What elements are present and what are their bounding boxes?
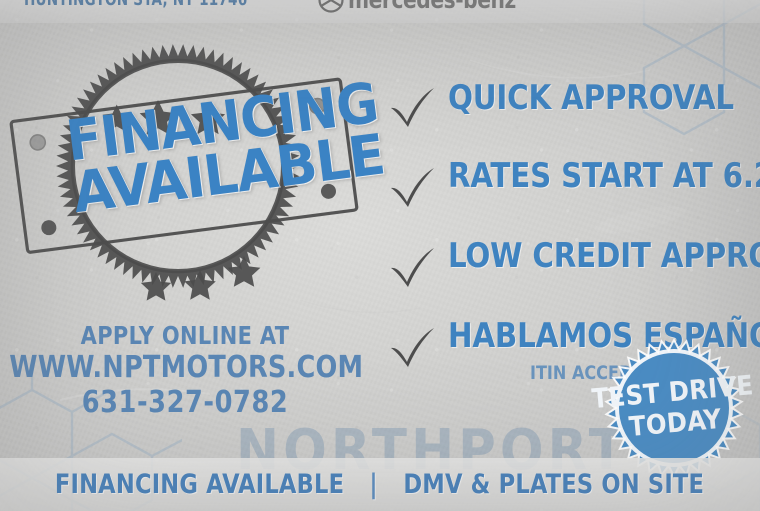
checklist-item: QUICK APPROVAL (386, 78, 760, 158)
financing-available-stamp: FINANCING AVAILABLE (6, 34, 366, 306)
advertisement-canvas: NORTHPORT HUNTINGTON STA, NY 11746 merce… (0, 0, 760, 511)
checklist-item: LOW CREDIT APPROVED (386, 238, 760, 318)
phone-number[interactable]: 631-327-0782 (9, 387, 361, 419)
footer-left-text: FINANCING AVAILABLE (55, 469, 344, 500)
checkmark-icon (386, 246, 438, 290)
checklist-item: RATES START AT 6.2% (386, 158, 760, 238)
apply-online-block: APPLY ONLINE AT WWW.NPTMOTORS.COM 631-32… (0, 322, 370, 420)
footer-bar: FINANCING AVAILABLE | DMV & PLATES ON SI… (0, 458, 760, 511)
mercedes-benz-wordmark: mercedes-benz (348, 0, 516, 14)
starburst-seal-icon (588, 338, 760, 478)
checklist-label: QUICK APPROVAL (448, 78, 734, 118)
apply-headline: APPLY ONLINE AT (13, 322, 357, 349)
footer-right-text: DMV & PLATES ON SITE (404, 469, 705, 500)
mercedes-benz-logo: mercedes-benz (318, 0, 534, 14)
checklist-label: LOW CREDIT APPROVED (448, 236, 760, 276)
checklist-label: RATES START AT 6.2% (448, 156, 760, 196)
dealer-address: HUNTINGTON STA, NY 11746 (24, 0, 247, 10)
checkmark-icon (386, 326, 438, 370)
test-drive-today-badge[interactable]: TEST DRIVE TODAY (588, 338, 760, 478)
footer-separator: | (357, 469, 391, 500)
checkmark-icon (386, 86, 438, 130)
mercedes-star-icon (318, 0, 344, 13)
top-header-bar: HUNTINGTON STA, NY 11746 mercedes-benz (0, 0, 760, 23)
website-url[interactable]: WWW.NPTMOTORS.COM (9, 352, 361, 384)
checkmark-icon (386, 166, 438, 210)
